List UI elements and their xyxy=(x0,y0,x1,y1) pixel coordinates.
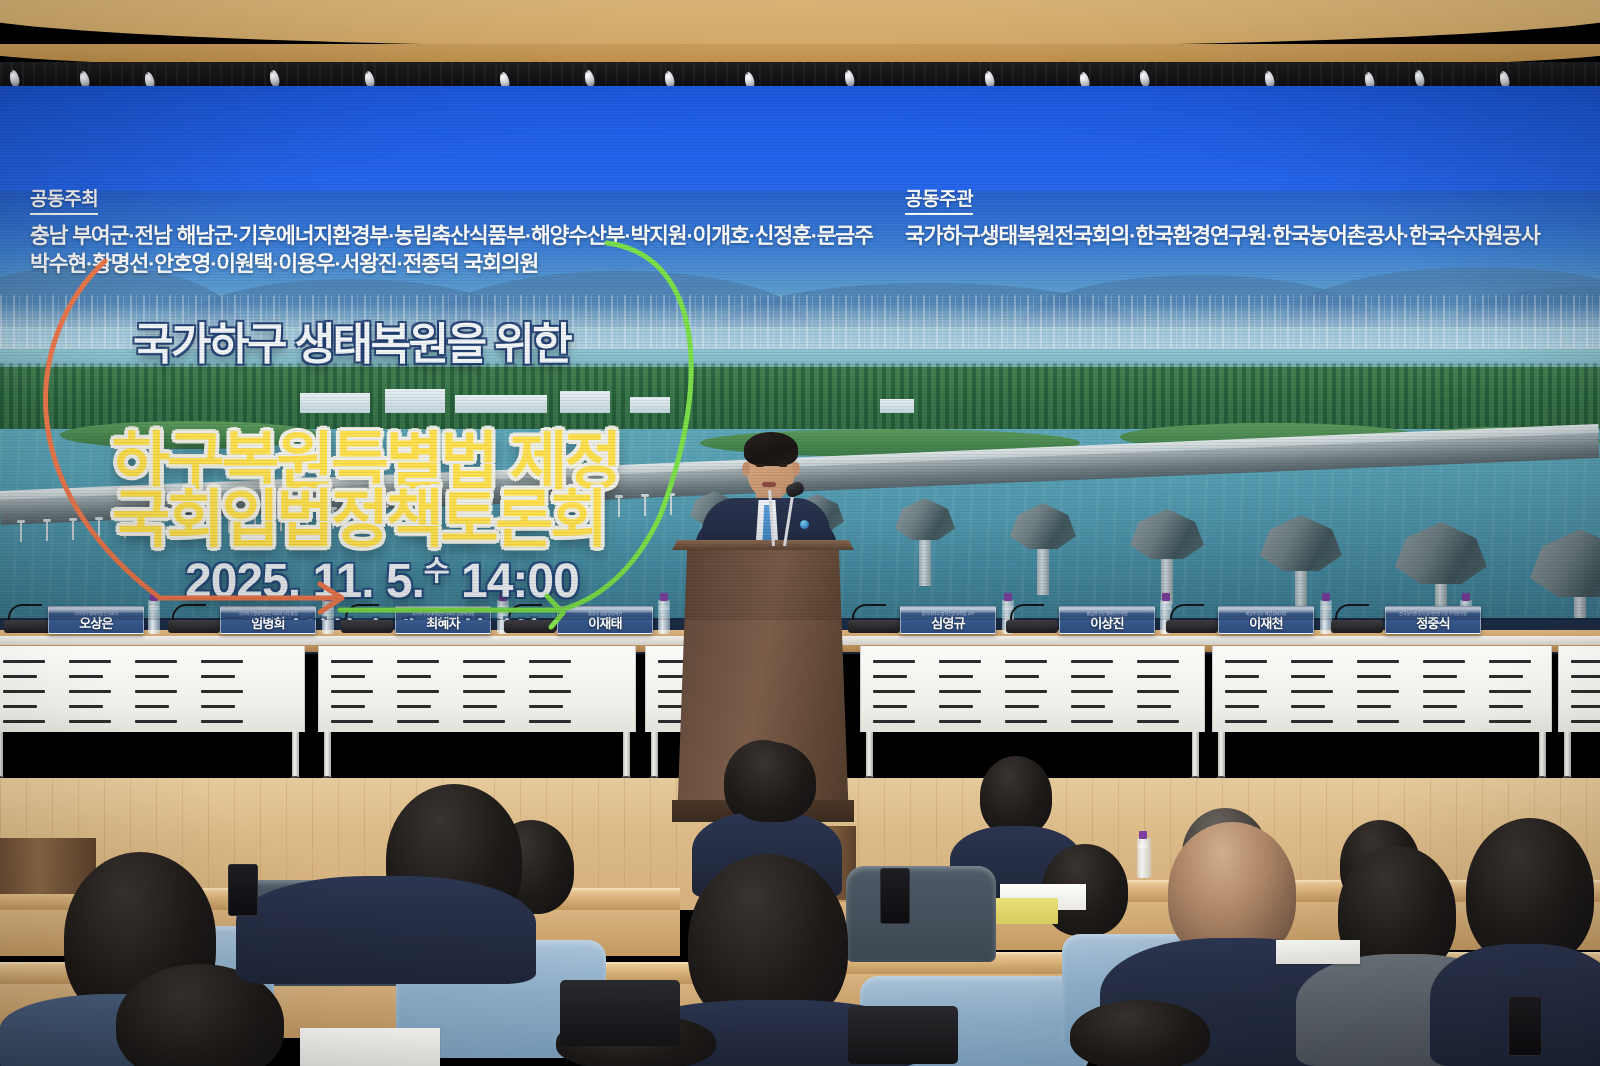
audience-camera-2 xyxy=(848,1006,958,1064)
audience-area xyxy=(0,0,1600,1066)
audience-shoulders-fg-3 xyxy=(236,876,536,984)
audience-head-fg-5 xyxy=(728,742,816,822)
audience-phone-3 xyxy=(228,864,258,916)
conference-photo-scene: 공동주최 충남 부여군·전남 해남군·기후에너지환경부·농림축산식품부·해양수산… xyxy=(0,0,1600,1066)
audience-paper-3 xyxy=(1276,940,1360,964)
audience-phone-2 xyxy=(1508,996,1542,1056)
audience-head-far-2 xyxy=(980,756,1052,836)
audience-camera-1 xyxy=(560,980,680,1046)
audience-phone-1 xyxy=(880,868,910,924)
audience-head-fg-9 xyxy=(1070,1000,1210,1066)
audience-chair-dark-2 xyxy=(846,866,996,962)
audience-water-bottle-1 xyxy=(1137,838,1151,878)
audience-paper-2 xyxy=(300,1028,440,1066)
